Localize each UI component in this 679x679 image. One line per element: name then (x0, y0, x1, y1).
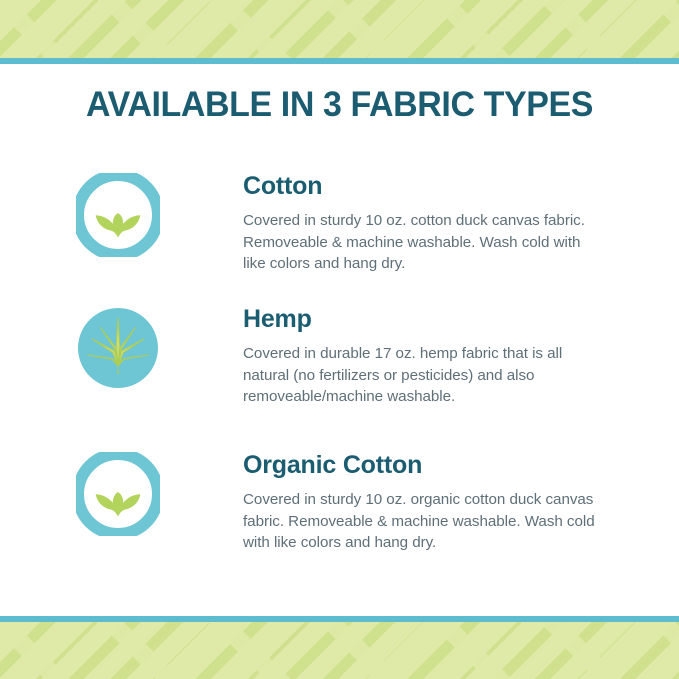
fabric-item-cotton: Cotton Covered in sturdy 10 oz. cotton d… (0, 163, 679, 296)
fabric-text-hemp: Hemp Covered in durable 17 oz. hemp fabr… (166, 296, 679, 408)
hemp-leaf-icon (76, 296, 166, 390)
fabric-types-list: Cotton Covered in sturdy 10 oz. cotton d… (0, 163, 679, 592)
fabric-heading-cotton: Cotton (243, 172, 679, 200)
bottom-band-dash-overlay (0, 622, 679, 679)
top-decorative-band (0, 0, 679, 64)
fabric-item-hemp: Hemp Covered in durable 17 oz. hemp fabr… (0, 296, 679, 442)
infographic-page: AVAILABLE IN 3 FABRIC TYPES Cotton Cover… (0, 0, 679, 679)
cotton-boll-icon (76, 442, 166, 536)
cotton-boll-icon-graphic (76, 452, 160, 536)
fabric-text-cotton: Cotton Covered in sturdy 10 oz. cotton d… (166, 163, 679, 275)
fabric-description-hemp: Covered in durable 17 oz. hemp fabric th… (243, 343, 603, 408)
page-title: AVAILABLE IN 3 FABRIC TYPES (10, 84, 669, 126)
cotton-boll-icon (76, 163, 166, 257)
fabric-heading-hemp: Hemp (243, 305, 679, 333)
hemp-leaf-icon-graphic (76, 306, 160, 390)
top-band-dash-overlay (0, 0, 679, 58)
cotton-boll-icon-graphic (76, 173, 160, 257)
bottom-decorative-band (0, 616, 679, 679)
top-band-teal-rule (0, 58, 679, 64)
fabric-description-cotton: Covered in sturdy 10 oz. cotton duck can… (243, 210, 603, 275)
bottom-band-teal-rule (0, 616, 679, 622)
fabric-item-organic-cotton: Organic Cotton Covered in sturdy 10 oz. … (0, 442, 679, 592)
fabric-heading-organic-cotton: Organic Cotton (243, 451, 679, 479)
fabric-description-organic-cotton: Covered in sturdy 10 oz. organic cotton … (243, 489, 603, 554)
fabric-text-organic-cotton: Organic Cotton Covered in sturdy 10 oz. … (166, 442, 679, 554)
